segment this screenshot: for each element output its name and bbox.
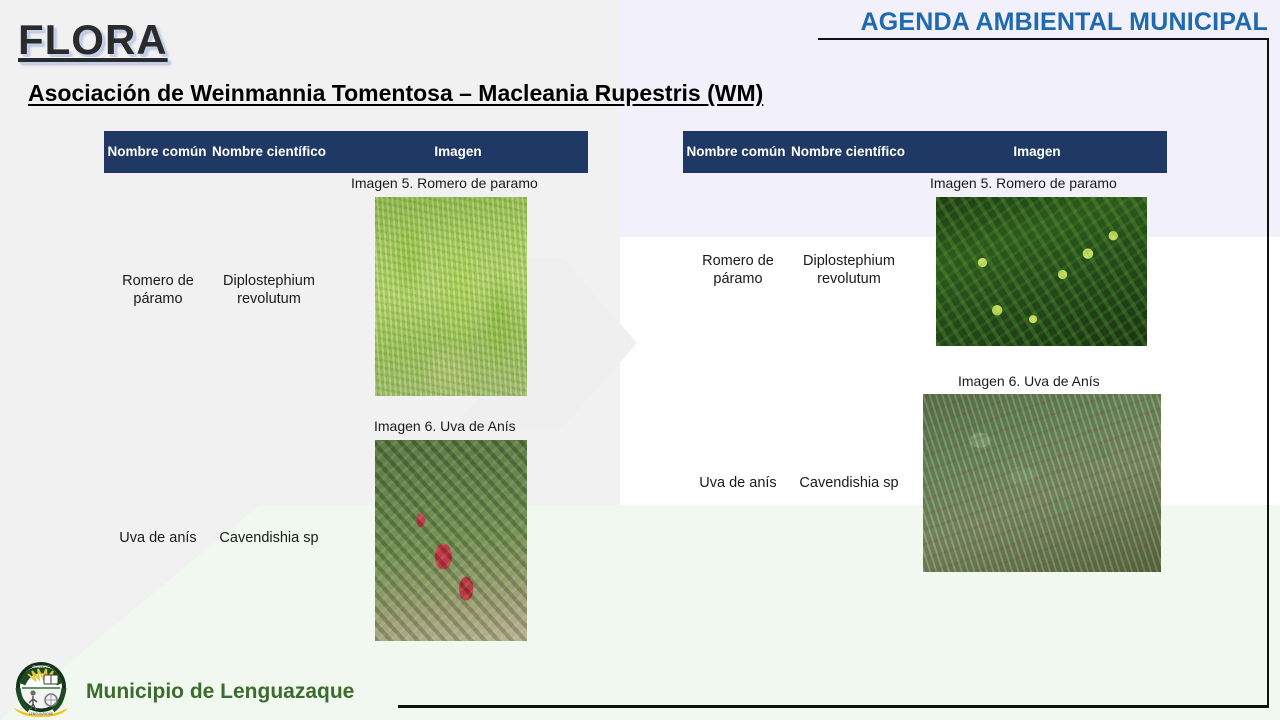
image-caption: Imagen 6. Uva de Anís bbox=[374, 418, 516, 434]
flora-table-left: Nombre común Nombre científico Imagen bbox=[104, 131, 588, 173]
flora-table-right: Nombre común Nombre científico Imagen bbox=[683, 131, 1167, 173]
table-row: Cavendishia sp bbox=[792, 474, 906, 492]
frame-line-right bbox=[1267, 38, 1269, 707]
column-header-nombre-cientifico: Nombre científico bbox=[789, 131, 907, 173]
table-row: Romero de páramo bbox=[690, 252, 786, 288]
table-header-row: Nombre común Nombre científico Imagen bbox=[683, 131, 1167, 173]
table-row: Cavendishia sp bbox=[212, 529, 326, 547]
column-header-nombre-comun: Nombre común bbox=[683, 131, 789, 173]
romero-de-paramo-buds-photo bbox=[936, 197, 1147, 346]
column-header-imagen: Imagen bbox=[907, 131, 1167, 173]
uva-de-anis-red-flowers-photo bbox=[375, 440, 527, 641]
table-row: Romero de páramo bbox=[110, 272, 206, 308]
image-caption: Imagen 5. Romero de paramo bbox=[930, 175, 1117, 191]
section-label-text: FLORA bbox=[18, 16, 168, 63]
svg-text:LENGUAZAQUE: LENGUAZAQUE bbox=[29, 712, 53, 716]
column-header-nombre-comun: Nombre común bbox=[104, 131, 210, 173]
table-row: Diplostephium revolutum bbox=[212, 272, 326, 308]
column-header-nombre-cientifico: Nombre científico bbox=[210, 131, 328, 173]
page-title: Asociación de Weinmannia Tomentosa – Mac… bbox=[28, 80, 763, 107]
section-label-flora: FLORA bbox=[18, 16, 168, 64]
table-row: Diplostephium revolutum bbox=[792, 252, 906, 288]
column-header-imagen: Imagen bbox=[328, 131, 588, 173]
table-header-row: Nombre común Nombre científico Imagen bbox=[104, 131, 588, 173]
image-caption: Imagen 5. Romero de paramo bbox=[351, 175, 538, 191]
agenda-title: AGENDA AMBIENTAL MUNICIPAL bbox=[640, 8, 1268, 37]
image-caption: Imagen 6. Uva de Anís bbox=[958, 373, 1100, 389]
uva-de-anis-leaves-photo bbox=[923, 394, 1161, 572]
frame-line-top bbox=[818, 38, 1269, 40]
svg-text:MUNICIPIO: MUNICIPIO bbox=[33, 665, 50, 669]
lenguazaque-coat-of-arms-icon: LENGUAZAQUE MUNICIPIO bbox=[8, 660, 74, 718]
romero-de-paramo-shrub-photo bbox=[375, 197, 527, 396]
frame-line-bottom bbox=[398, 705, 1269, 708]
municipality-name: Municipio de Lenguazaque bbox=[86, 680, 354, 704]
table-row: Uva de anís bbox=[110, 529, 206, 547]
table-row: Uva de anís bbox=[690, 474, 786, 492]
